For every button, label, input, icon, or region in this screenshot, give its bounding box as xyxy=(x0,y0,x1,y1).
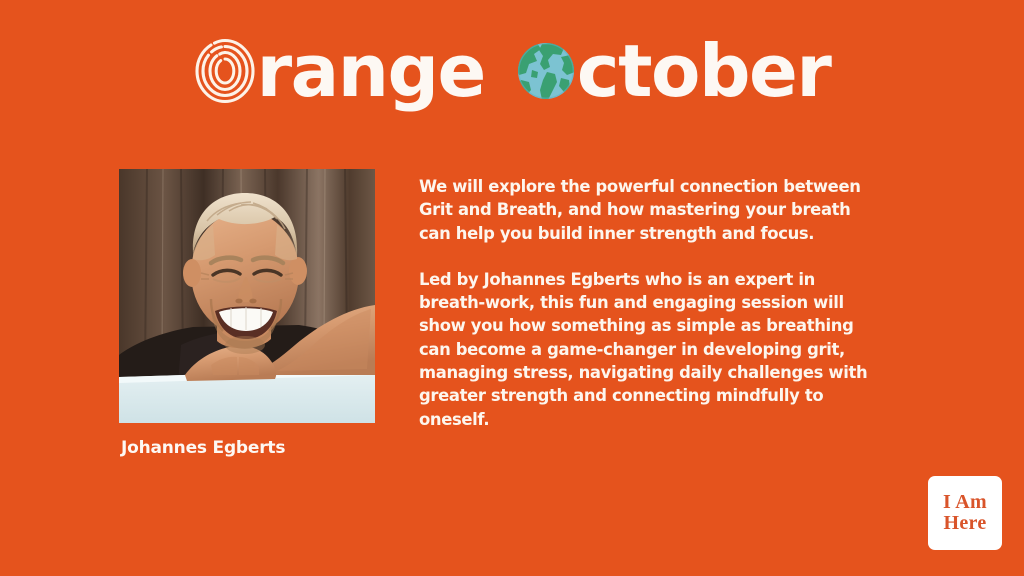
logo-line-2: Here xyxy=(943,513,986,534)
title-word-october: ctober xyxy=(517,35,830,107)
i-am-here-logo: I Am Here xyxy=(928,476,1002,550)
speaker-caption: Johannes Egberts xyxy=(121,438,285,458)
logo-line-1: I Am xyxy=(943,492,987,513)
title-text-orange: range xyxy=(257,35,485,107)
fingerprint-o-icon xyxy=(194,38,256,104)
body-paragraph-2: Led by Johannes Egberts who is an expert… xyxy=(419,268,881,431)
body-copy: We will explore the powerful connection … xyxy=(419,175,881,431)
slide-title: range ctober xyxy=(0,26,1024,116)
title-word-orange: range xyxy=(194,35,485,107)
globe-o-icon xyxy=(517,42,575,100)
body-paragraph-1: We will explore the powerful connection … xyxy=(419,175,881,245)
speaker-photo xyxy=(119,169,375,423)
title-text-october: ctober xyxy=(577,35,830,107)
